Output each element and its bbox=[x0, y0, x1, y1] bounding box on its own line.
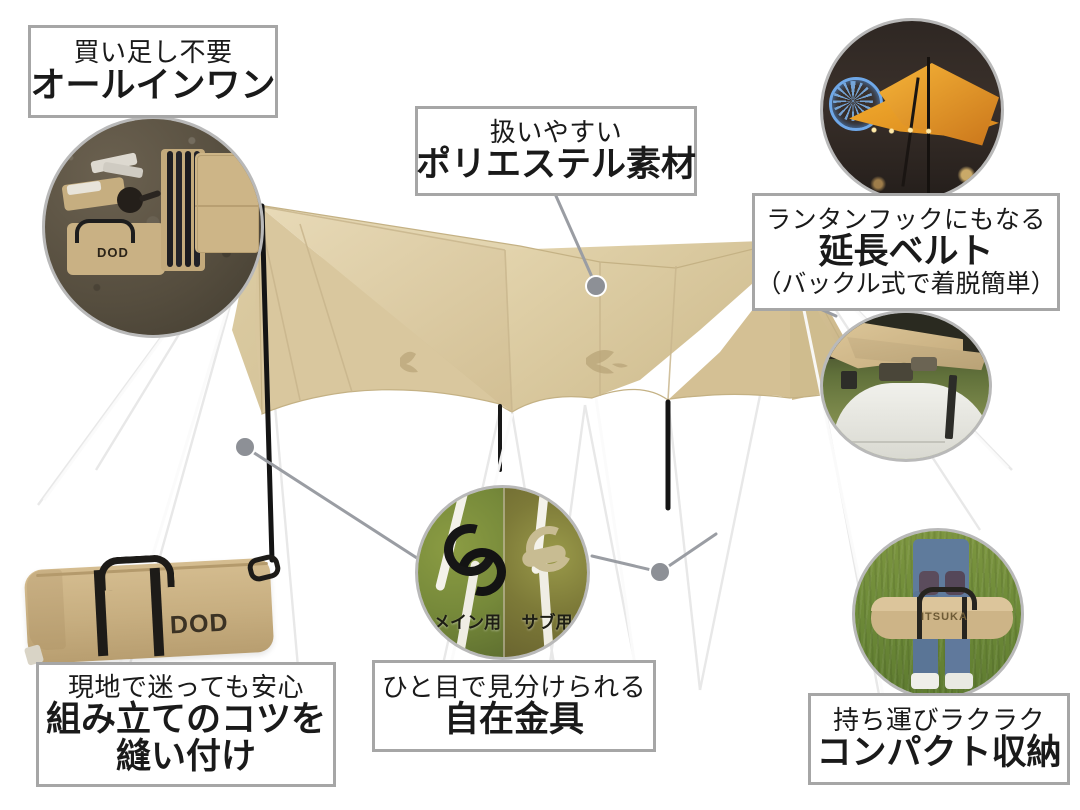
infographic-canvas: DOD bbox=[0, 0, 1080, 810]
callout-sub-sewn-instructions: 現地で迷っても安心 bbox=[68, 674, 304, 702]
photo-extension-belt bbox=[820, 310, 992, 462]
callout-main-extension-belt: 延長ベルト bbox=[818, 233, 993, 270]
photo-compact-storage: ITSUKA bbox=[852, 528, 1024, 700]
callout-main-all-in-one: オールインワン bbox=[31, 67, 276, 104]
callout-sub-compact-storage: 持ち運びラクラク bbox=[833, 707, 1045, 735]
callout-note-extension-belt: （バックル式で着脱簡単） bbox=[756, 271, 1055, 298]
callout-main-compact-storage: コンパクト収納 bbox=[817, 734, 1062, 771]
callout-box-sewn-instructions[interactable]: 現地で迷っても安心 組み立てのコツを 縫い付け bbox=[36, 662, 336, 787]
dod-bag-logo: DOD bbox=[169, 608, 229, 640]
carry-bag-logo: ITSUKA bbox=[921, 611, 968, 623]
callout-main2-sewn-instructions: 縫い付け bbox=[116, 738, 256, 775]
callout-box-compact-storage[interactable]: 持ち運びラクラク コンパクト収納 bbox=[808, 693, 1070, 785]
hardware-label-main: メイン用 bbox=[430, 608, 504, 633]
callout-box-all-in-one[interactable]: 買い足し不要 オールインワン bbox=[28, 25, 278, 118]
callout-main-polyester: ポリエステル素材 bbox=[416, 146, 696, 183]
callout-sub-hardware: ひと目で見分けられる bbox=[382, 674, 646, 702]
photo-night-tarp bbox=[820, 18, 1004, 202]
callout-sub-extension-belt: ランタンフックにもなる bbox=[766, 207, 1046, 234]
photo-all-in-one: DOD bbox=[42, 116, 264, 338]
hardware-label-sub: サブ用 bbox=[512, 608, 582, 633]
callout-box-hardware[interactable]: ひと目で見分けられる 自在金具 bbox=[372, 660, 656, 752]
callout-sub-all-in-one: 買い足し不要 bbox=[73, 39, 232, 67]
callout-main-sewn-instructions: 組み立てのコツを bbox=[46, 701, 326, 738]
hardware-callout-dot bbox=[649, 561, 671, 583]
polyester-callout-dot bbox=[585, 275, 607, 297]
callout-sub-polyester: 扱いやすい bbox=[490, 119, 623, 147]
photo-dod-carry-bag: DOD bbox=[20, 538, 282, 678]
sewn-callout-dot bbox=[234, 436, 256, 458]
photo-hardware-comparison: メイン用 サブ用 bbox=[415, 485, 590, 660]
callout-main-hardware: 自在金具 bbox=[444, 701, 584, 738]
callout-box-extension-belt[interactable]: ランタンフックにもなる 延長ベルト （バックル式で着脱簡単） bbox=[752, 193, 1060, 311]
callout-box-polyester[interactable]: 扱いやすい ポリエステル素材 bbox=[415, 106, 697, 196]
